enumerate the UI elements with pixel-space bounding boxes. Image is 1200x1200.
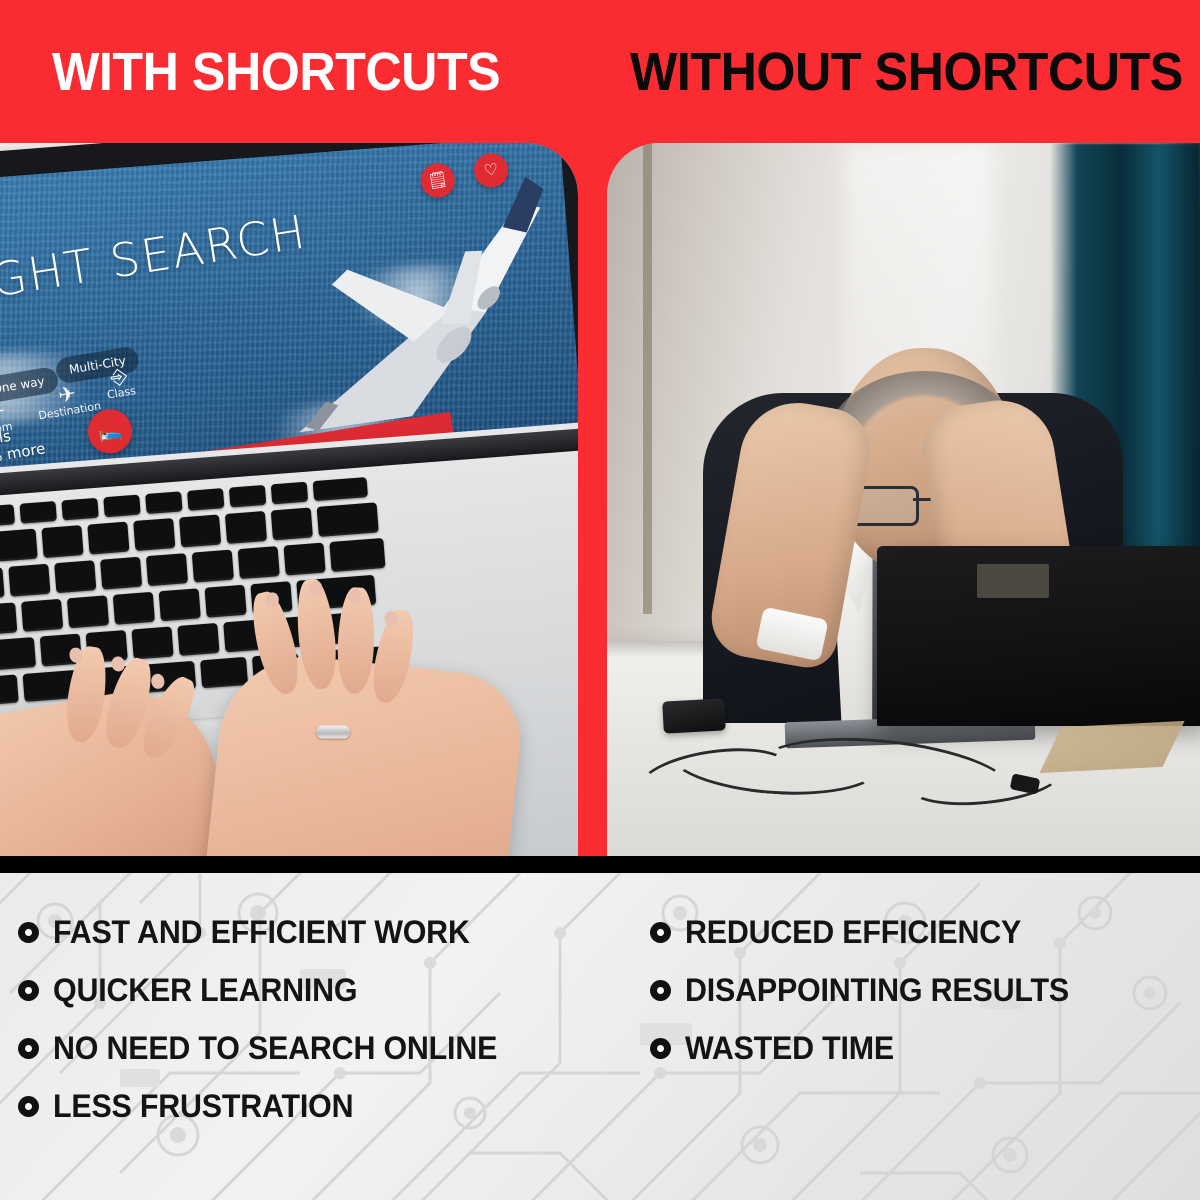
list-item-label: LESS FRUSTRATION [53,1088,353,1125]
comparison-poster: WITH SHORTCUTS WITHOUT SHORTCUTS � [0,0,1200,1200]
list-item: REDUCED EFFICIENCY [650,903,1200,961]
bullet-icon [18,922,39,943]
drawbacks-list: REDUCED EFFICIENCY DISAPPOINTING RESULTS… [600,873,1200,1200]
list-item-label: FAST AND EFFICIENT WORK [53,914,470,951]
list-item: WASTED TIME [650,1019,1200,1077]
header-title-without-shortcuts: WITHOUT SHORTCUTS [630,45,1183,99]
benefits-drawbacks-section: FAST AND EFFICIENT WORK QUICKER LEARNING… [0,873,1200,1200]
photo-with-shortcuts: 🗒 ♡ FLIGHT SEARCH Return One way Multi-C… [0,143,578,856]
list-item: LESS FRUSTRATION [18,1077,600,1135]
header-cell-with-shortcuts: WITH SHORTCUTS [0,0,600,143]
header-title-with-shortcuts: WITH SHORTCUTS [52,45,500,99]
list-item: FAST AND EFFICIENT WORK [18,903,600,961]
bullet-icon [18,1096,39,1117]
frustrated-man-scene [607,143,1200,856]
list-item-label: DISAPPOINTING RESULTS [685,972,1069,1009]
class-field[interactable]: ⎆ Class [103,364,137,401]
black-laptop [877,546,1200,726]
header-bar: WITH SHORTCUTS WITHOUT SHORTCUTS [0,0,1200,143]
bullet-icon [18,980,39,1001]
laptop-typing-scene: 🗒 ♡ FLIGHT SEARCH Return One way Multi-C… [0,143,578,856]
list-item-label: WASTED TIME [685,1030,894,1067]
list-item-label: QUICKER LEARNING [53,972,357,1009]
bullet-icon [650,922,671,943]
list-item: QUICKER LEARNING [18,961,600,1019]
header-cell-without-shortcuts: WITHOUT SHORTCUTS [600,0,1200,143]
bullet-icon [18,1038,39,1059]
bullet-icon [650,1038,671,1059]
desk-paper [1039,721,1184,773]
list-item: DISAPPOINTING RESULTS [650,961,1200,1019]
list-item: NO NEED TO SEARCH ONLINE [18,1019,600,1077]
horizontal-black-divider [0,856,1200,873]
benefits-list: FAST AND EFFICIENT WORK QUICKER LEARNING… [0,873,600,1200]
finger-ring [316,726,350,739]
photo-without-shortcuts [607,143,1200,856]
list-item-label: REDUCED EFFICIENCY [685,914,1021,951]
vertical-red-divider [578,143,607,856]
bullet-icon [650,980,671,1001]
lists-container: FAST AND EFFICIENT WORK QUICKER LEARNING… [0,873,1200,1200]
list-item-label: NO NEED TO SEARCH ONLINE [53,1030,497,1067]
